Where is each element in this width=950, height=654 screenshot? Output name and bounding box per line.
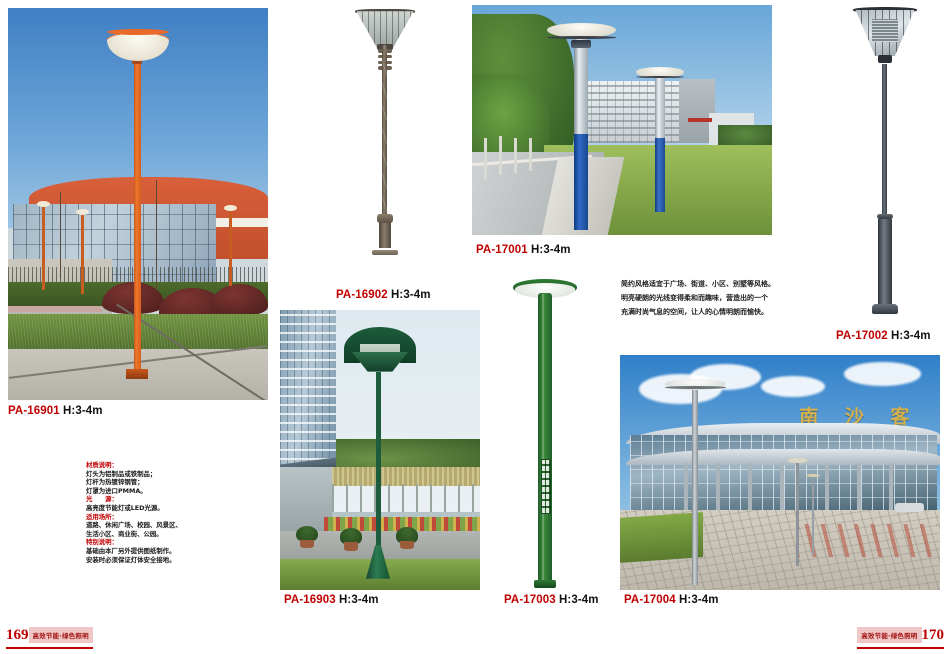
pole-foot <box>379 223 391 248</box>
blurb-line: 简约风格适宜于广场、街道、小区、别墅等风格。 <box>621 277 836 291</box>
canopy-column <box>748 463 752 515</box>
product-code: PA-17003 <box>504 594 556 606</box>
midground-lamp-pole <box>796 463 799 566</box>
product-code: PA-17004 <box>624 594 676 606</box>
cloud <box>844 362 921 386</box>
tree-trunk <box>514 138 517 173</box>
spec-special-heading: 特别说明： <box>86 538 216 547</box>
product-code: PA-16902 <box>336 289 388 301</box>
product-label-pa-17001: PA-17001 H:3-4m <box>476 244 571 256</box>
footer-right: 高效节能·绿色照明 170 <box>857 624 944 646</box>
lamp-column <box>538 293 551 587</box>
base-plate <box>372 250 398 256</box>
lamp-base <box>126 369 148 379</box>
pole-base-column <box>878 219 892 305</box>
spec-light-source-line: 高亮度节能灯或LED光源。 <box>86 504 216 513</box>
distant-trees <box>718 125 772 148</box>
marketing-blurb: 简约风格适宜于广场、街道、小区、别墅等风格。 明亮硬朗的光线变得柔和而趣味，营造… <box>621 277 836 319</box>
lamp-pole <box>376 372 381 568</box>
background-lamp-shade <box>224 205 237 211</box>
spec-application-heading: 适用场所： <box>86 513 216 522</box>
lamp-pole-primary-blue <box>574 134 588 231</box>
pole-foot-ring <box>377 214 392 222</box>
product-height: H:3-4m <box>391 289 431 301</box>
pole-collar <box>571 40 591 48</box>
canopy-column <box>716 463 720 515</box>
lamp-shade-rim <box>547 36 616 39</box>
spec-application-line: 道路、休闲广场、校园、风景区、 <box>86 521 216 530</box>
blurb-line: 明亮硬朗的光线变得柔和而趣味，营造出的一个 <box>621 291 836 305</box>
spec-light-source-heading: 光 源： <box>86 495 216 504</box>
product-photo-pa-16901 <box>8 8 268 400</box>
product-code: PA-16901 <box>8 405 60 417</box>
blurb-line: 充满时尚气息的空间，让人的心情明朗而愉快。 <box>621 305 836 319</box>
specifications-block: 材质说明： 灯头为铝制品或铁制品； 灯杆为热镀锌钢管； 灯罩为进口PMMA。 光… <box>86 461 216 564</box>
bare-tree <box>60 192 61 278</box>
canopy-column <box>889 463 893 515</box>
product-photo-pa-16903 <box>280 310 480 590</box>
glass-tower <box>280 310 336 478</box>
catalog-page: PA-16901 H:3-4m PA-16902 H:3-4m <box>0 0 950 654</box>
spec-material-heading: 材质说明： <box>86 461 216 470</box>
lamp-pole-secondary-blue <box>655 138 665 212</box>
plaza-pattern <box>796 524 937 557</box>
product-label-pa-16903: PA-16903 H:3-4m <box>284 594 379 606</box>
lamp-pole <box>382 45 388 242</box>
plant-pot <box>400 541 414 549</box>
lamp-louver <box>872 19 898 41</box>
spec-special-line: 基础由本厂另外提供图纸制作。 <box>86 547 216 556</box>
product-photo-pa-17001 <box>472 5 772 235</box>
canopy-column <box>825 463 829 515</box>
background-lamp-pole <box>42 204 45 290</box>
product-label-pa-16901: PA-16901 H:3-4m <box>8 405 103 417</box>
canopy-column <box>684 463 688 515</box>
spec-special-line: 安装时必须保证灯体安全接地。 <box>86 556 216 565</box>
product-label-pa-17004: PA-17004 H:3-4m <box>624 594 719 606</box>
product-photo-pa-17004: 南 沙 客 <box>620 355 940 590</box>
canopy-column <box>780 463 784 515</box>
product-height: H:3-4m <box>559 594 599 606</box>
product-height: H:3-4m <box>339 594 379 606</box>
product-photo-pa-17002 <box>830 0 940 320</box>
column-light-window <box>541 459 552 514</box>
product-label-pa-17002: PA-17002 H:3-4m <box>836 330 931 342</box>
product-label-pa-16902: PA-16902 H:3-4m <box>336 289 431 301</box>
bare-tree <box>156 180 157 290</box>
page-number-right: 170 <box>922 627 945 644</box>
footer-left: 169 高效节能·绿色照明 <box>6 624 93 646</box>
product-photo-pa-16902 <box>330 0 440 282</box>
lamp-shade <box>356 11 413 48</box>
product-code: PA-17002 <box>836 330 888 342</box>
spec-material-line: 灯杆为热镀锌钢管； <box>86 478 216 487</box>
tree-trunk <box>529 138 532 170</box>
background-lamp-shade <box>37 201 50 207</box>
tree-trunk <box>499 136 502 175</box>
product-label-pa-17003: PA-17003 H:3-4m <box>504 594 599 606</box>
background-lamp-shade <box>76 209 89 215</box>
spec-material-line: 灯头为铝制品或铁制品； <box>86 470 216 479</box>
plant-pot <box>300 540 314 548</box>
footer-slogan-left: 高效节能·绿色照明 <box>29 627 93 643</box>
plant-pot <box>344 542 358 550</box>
footer-rule <box>857 647 944 649</box>
background-lamp-pole <box>81 212 84 294</box>
background-lamp-pole <box>812 477 814 555</box>
product-height: H:3-4m <box>891 330 931 342</box>
background-lamp-pole <box>229 208 232 286</box>
lawn <box>620 512 703 562</box>
lamp-pole <box>692 386 698 586</box>
product-code: PA-17001 <box>476 244 528 256</box>
lamp-collar <box>878 55 891 63</box>
lamp-pole <box>134 51 141 372</box>
product-photo-pa-17003 <box>490 258 600 588</box>
parked-car <box>895 503 924 512</box>
product-code: PA-16903 <box>284 594 336 606</box>
page-number-left: 169 <box>6 627 29 644</box>
canopy-column <box>857 463 861 515</box>
product-height: H:3-4m <box>63 405 103 417</box>
footer-rule <box>6 647 93 649</box>
red-signboard <box>688 118 712 123</box>
column-highlight <box>542 294 544 584</box>
footer-slogan-right: 高效节能·绿色照明 <box>857 627 921 643</box>
product-height: H:3-4m <box>531 244 571 256</box>
product-height: H:3-4m <box>679 594 719 606</box>
tree-trunk <box>484 138 487 179</box>
column-base <box>534 580 556 588</box>
base-plate <box>872 304 898 314</box>
